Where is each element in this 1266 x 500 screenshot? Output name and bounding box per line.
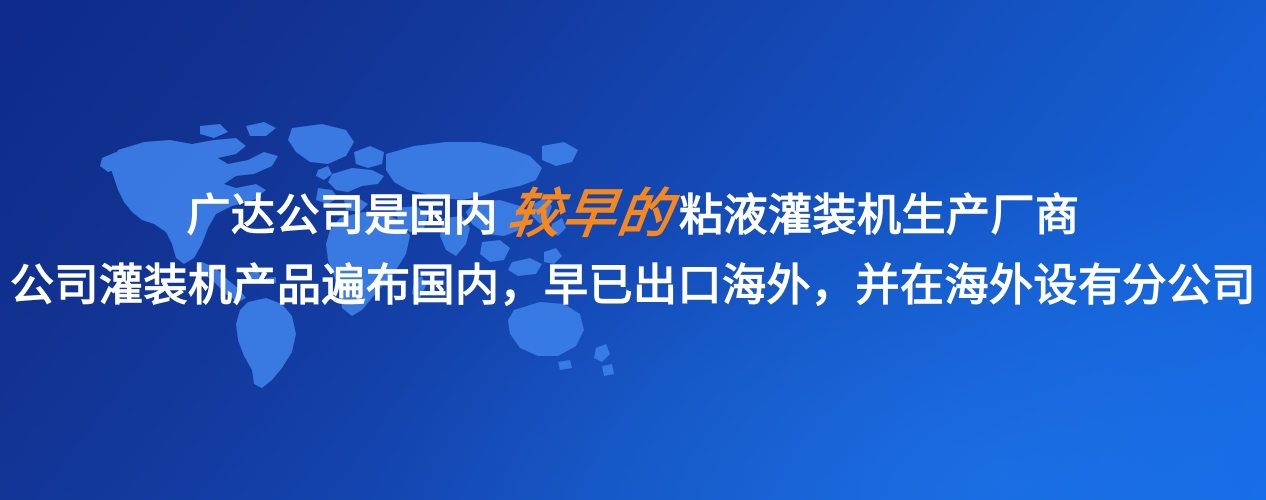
headline-block: 广达公司是国内较早的粘液灌装机生产厂商 公司灌装机产品遍布国内，早已出口海外，并… xyxy=(0,186,1266,315)
headline-highlight: 较早的 xyxy=(494,186,683,244)
promo-banner: 广达公司是国内较早的粘液灌装机生产厂商 公司灌装机产品遍布国内，早已出口海外，并… xyxy=(0,0,1266,500)
headline-line-2: 公司灌装机产品遍布国内，早已出口海外，并在海外设有分公司 xyxy=(0,257,1266,315)
headline-line-1: 广达公司是国内较早的粘液灌装机生产厂商 xyxy=(0,186,1266,245)
headline-line-1-after: 粘液灌装机生产厂商 xyxy=(679,191,1080,240)
headline-line-1-before: 广达公司是国内 xyxy=(187,191,499,240)
